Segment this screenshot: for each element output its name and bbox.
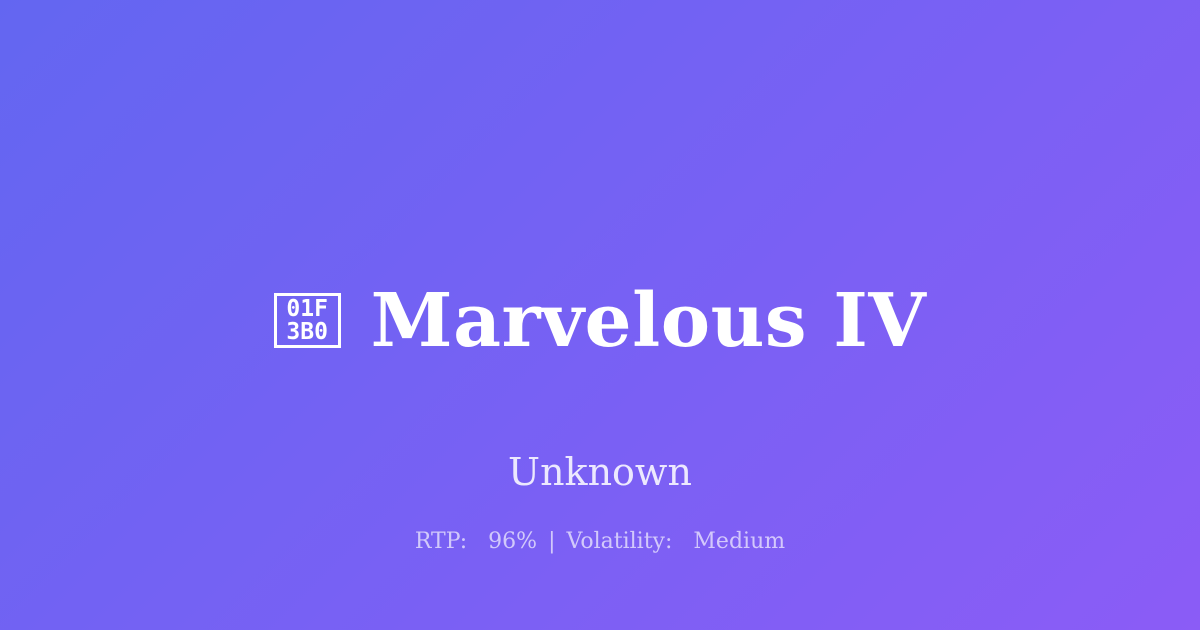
meta-separator: | [544,529,559,554]
tofu-hex-top: 01F [286,298,328,321]
tofu-hex-bottom: 3B0 [286,321,328,344]
volatility-label: Volatility: [567,529,673,554]
rtp-value: 96% [488,529,537,554]
game-provider: Unknown [508,451,692,493]
slot-machine-icon: 01F 3B0 [274,293,341,348]
game-title: Marvelous IV [371,282,927,360]
game-meta-line: RTP: 96% | Volatility: Medium [0,528,1200,556]
title-row: 01F 3B0 Marvelous IV [274,232,927,409]
hero-block: 01F 3B0 Marvelous IV Unknown [0,232,1200,493]
volatility-value: Medium [693,529,785,554]
rtp-label: RTP: [415,529,467,554]
game-banner-card: 01F 3B0 Marvelous IV Unknown RTP: 96% | … [0,0,1200,630]
